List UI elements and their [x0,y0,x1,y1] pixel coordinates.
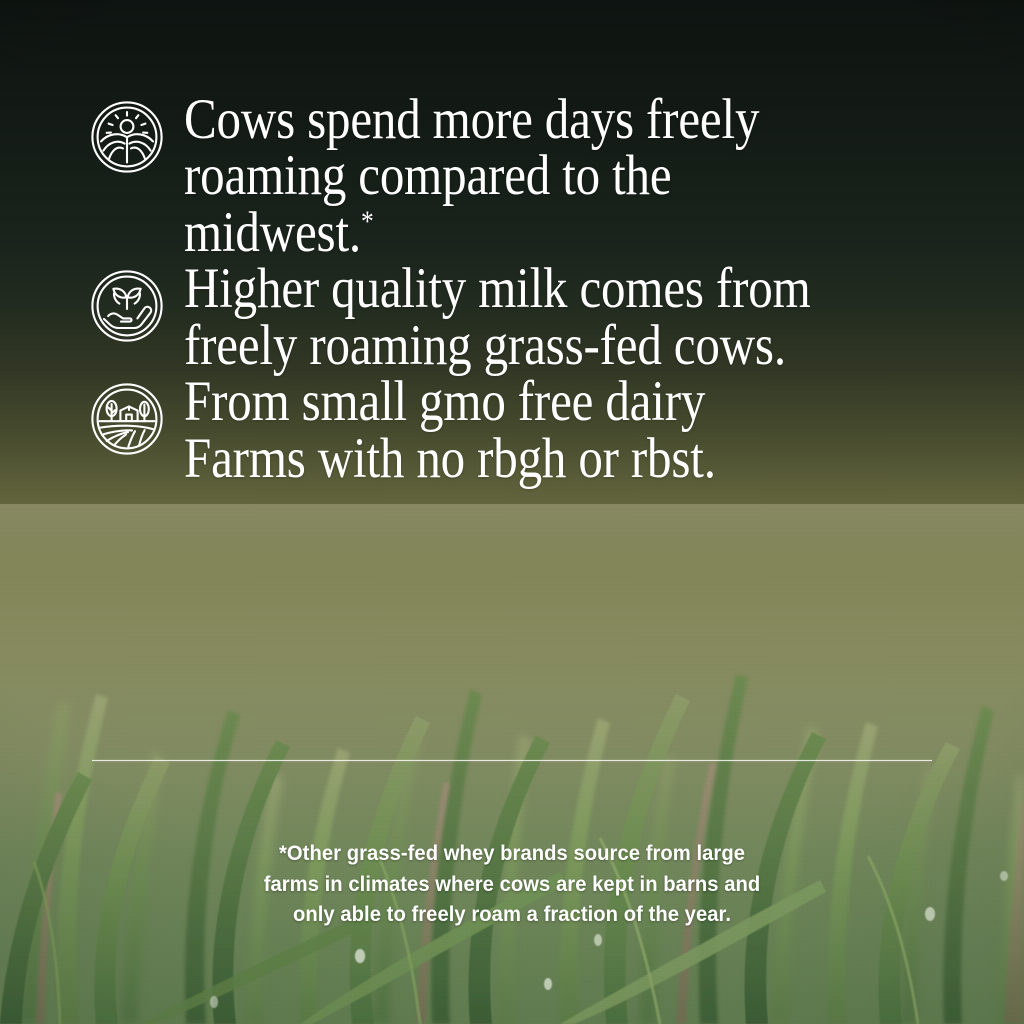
benefit-text: From small gmo free dairy Farms with no … [184,374,869,487]
horizontal-divider [92,760,932,761]
hand-holding-sprout-icon [90,269,164,343]
benefit-item-roaming-days: Cows spend more days freely roaming comp… [90,92,980,261]
sun-over-field-icon [90,100,164,174]
footnote-marker: * [361,206,374,238]
benefit-item-small-farms: From small gmo free dairy Farms with no … [90,374,980,487]
benefit-text: Cows spend more days freely roaming comp… [184,92,869,261]
benefit-item-milk-quality: Higher quality milk comes from freely ro… [90,261,980,374]
benefit-text-body: Higher quality milk comes from freely ro… [184,257,811,376]
benefit-text-body: From small gmo free dairy Farms with no … [184,370,716,489]
benefits-list: Cows spend more days freely roaming comp… [90,92,980,487]
farm-barn-field-icon [90,382,164,456]
benefit-text-body: Cows spend more days freely roaming comp… [184,88,759,264]
benefit-text: Higher quality milk comes from freely ro… [184,261,869,374]
promo-graphic: Cows spend more days freely roaming comp… [0,0,1024,1024]
footnote-text: *Other grass-fed whey brands source from… [31,838,994,930]
